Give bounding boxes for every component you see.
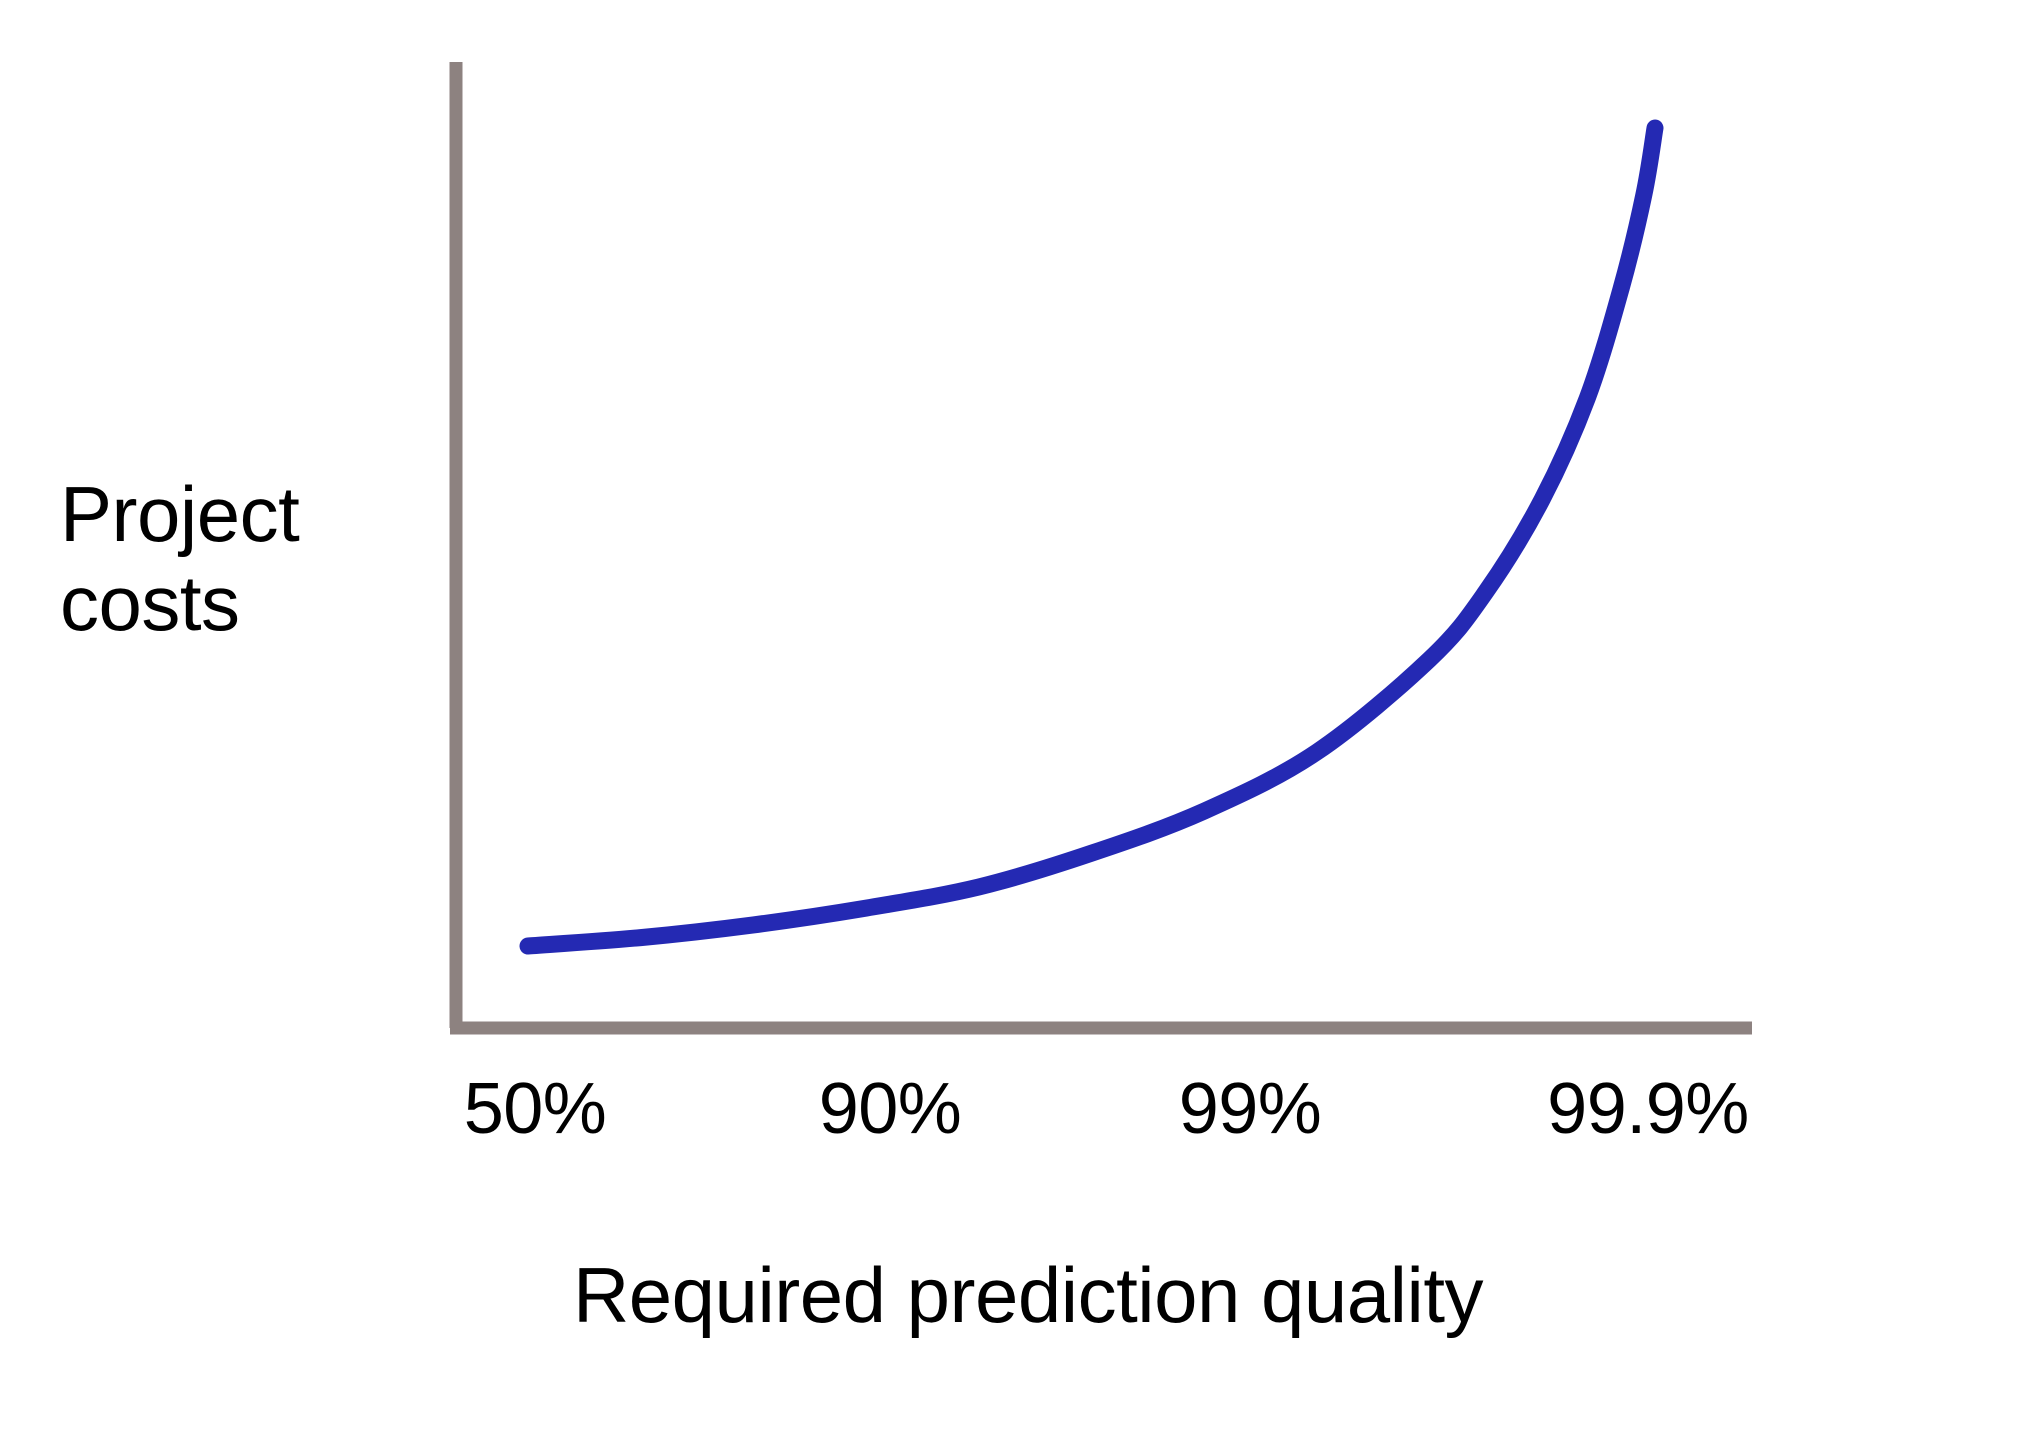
- project-costs-vs-prediction-quality-chart: Project costs 50% 90% 99% 99.9% Required…: [0, 0, 2036, 1444]
- x-axis-title: Required prediction quality: [573, 1256, 1483, 1334]
- x-tick-label-90: 90%: [819, 1073, 962, 1145]
- x-tick-label-50: 50%: [464, 1073, 607, 1145]
- x-tick-label-99-9: 99.9%: [1547, 1073, 1749, 1145]
- x-axis-tick-labels: 50% 90% 99% 99.9%: [440, 1073, 1770, 1153]
- x-axis-title-wrapper: Required prediction quality: [0, 1256, 2036, 1334]
- x-tick-label-99: 99%: [1179, 1073, 1322, 1145]
- plot-area: [0, 0, 2036, 1444]
- project-costs-curve: [528, 128, 1655, 946]
- chart-canvas: Project costs 50% 90% 99% 99.9% Required…: [0, 0, 2036, 1444]
